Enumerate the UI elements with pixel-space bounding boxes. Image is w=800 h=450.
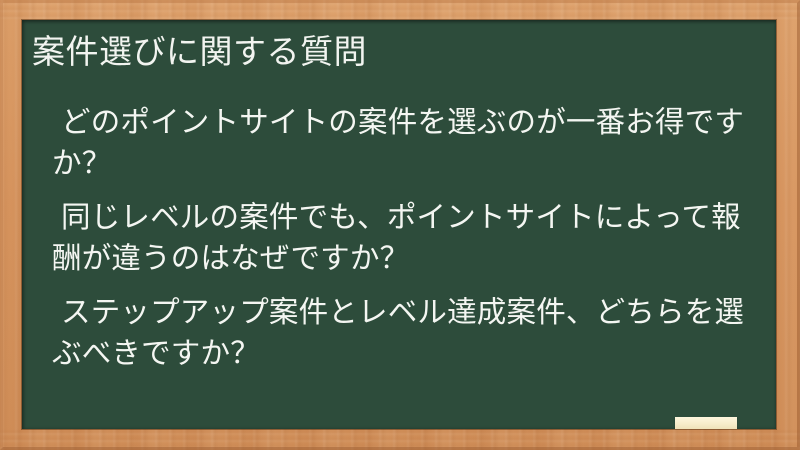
list-item: どのポイントサイトの案件を選ぶのが一番お得ですか？ <box>52 102 752 184</box>
list-item: ステップアップ案件とレベル達成案件、どちらを選ぶべきですか？ <box>52 292 752 374</box>
page-title: 案件選びに関する質問 <box>32 31 762 73</box>
chalkboard-surface: 案件選びに関する質問 どのポイントサイトの案件を選ぶのが一番お得ですか？ 同じレ… <box>22 20 776 429</box>
question-list: どのポイントサイトの案件を選ぶのが一番お得ですか？ 同じレベルの案件でも、ポイン… <box>52 102 752 374</box>
wooden-frame-top-rail <box>0 0 800 20</box>
wooden-frame-bottom-rail <box>0 429 800 450</box>
chalk-stick-icon <box>675 417 737 429</box>
chalkboard-slide: 案件選びに関する質問 どのポイントサイトの案件を選ぶのが一番お得ですか？ 同じレ… <box>0 0 800 450</box>
list-item: 同じレベルの案件でも、ポイントサイトによって報酬が違うのはなぜですか？ <box>52 197 752 279</box>
